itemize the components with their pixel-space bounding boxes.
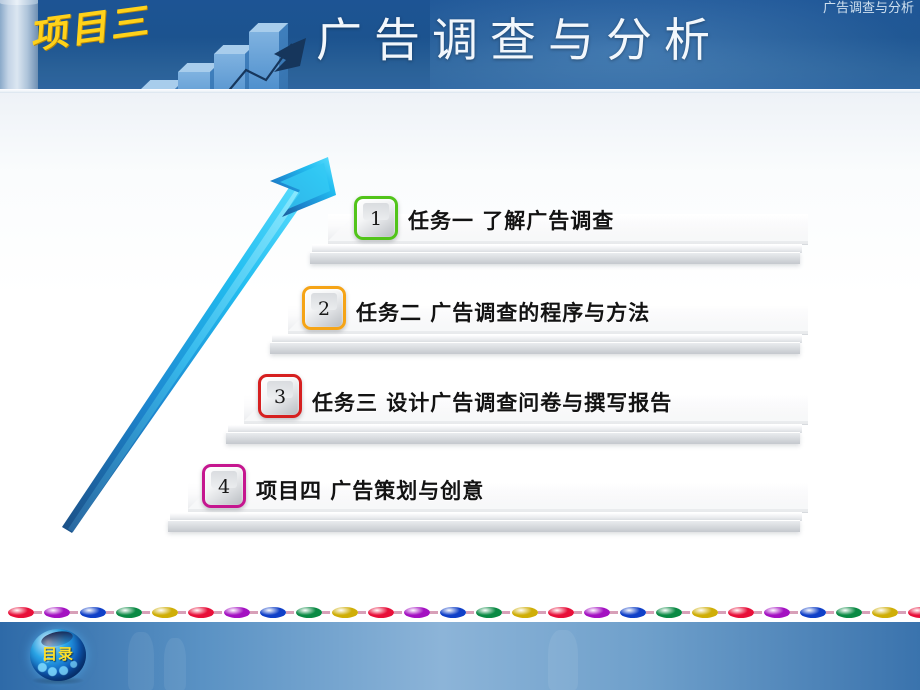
badge-number: 3 [261, 377, 299, 415]
item-number-badge[interactable]: 4 [202, 464, 246, 508]
slide-footer [0, 622, 920, 690]
bead [800, 607, 826, 618]
bead-link [322, 611, 330, 614]
bead-link [358, 611, 366, 614]
row-base-lower [270, 342, 800, 354]
bead-link [574, 611, 582, 614]
badge-number: 2 [305, 289, 343, 327]
bead [476, 607, 502, 618]
badge-number: 4 [205, 467, 243, 505]
bead [260, 607, 286, 618]
row-base-lower [226, 432, 800, 444]
bead [44, 607, 70, 618]
bead-link [502, 611, 510, 614]
bead-link [214, 611, 222, 614]
item-number-badge[interactable]: 2 [302, 286, 346, 330]
bead-link [70, 611, 78, 614]
bead [764, 607, 790, 618]
ghost-figure [128, 632, 154, 690]
bead-link [790, 611, 798, 614]
bead-link [106, 611, 114, 614]
bead [692, 607, 718, 618]
bead [188, 607, 214, 618]
bead [440, 607, 466, 618]
slide-canvas: 项目三 广告调查与分析 广告调查与分析 [0, 0, 920, 690]
bead-link [142, 611, 150, 614]
list-item-label: 任务三 设计广告调查问卷与撰写报告 [312, 390, 672, 416]
bead-link [826, 611, 834, 614]
bead [872, 607, 898, 618]
list-item-label: 任务二 广告调查的程序与方法 [356, 300, 650, 326]
badge-number: 1 [357, 199, 395, 237]
bead [620, 607, 646, 618]
bead [152, 607, 178, 618]
bead-link [682, 611, 690, 614]
bead [80, 607, 106, 618]
bead [548, 607, 574, 618]
bead [8, 607, 34, 618]
list-item[interactable]: 2 任务二 广告调查的程序与方法 [288, 278, 808, 356]
bead-link [430, 611, 438, 614]
globe-orb-icon[interactable]: 目录 [30, 629, 86, 681]
bead-link [898, 611, 906, 614]
bead [728, 607, 754, 618]
item-number-badge[interactable]: 1 [354, 196, 398, 240]
ghost-figure [548, 630, 578, 690]
ghost-figure [164, 638, 186, 690]
bead [368, 607, 394, 618]
bead [116, 607, 142, 618]
bead-link [718, 611, 726, 614]
bead-link [646, 611, 654, 614]
bead-link [466, 611, 474, 614]
list-item[interactable]: 1 任务一 了解广告调查 [328, 188, 808, 266]
bead [512, 607, 538, 618]
bead [296, 607, 322, 618]
bead [224, 607, 250, 618]
bead-link [250, 611, 258, 614]
bead-link [286, 611, 294, 614]
list-item[interactable]: 3 任务三 设计广告调查问卷与撰写报告 [244, 368, 808, 446]
bead-divider [0, 604, 920, 622]
bead-link [34, 611, 42, 614]
item-number-badge[interactable]: 3 [258, 374, 302, 418]
bead [908, 607, 920, 618]
bead-link [862, 611, 870, 614]
bead-link [754, 611, 762, 614]
menu-list: 1 任务一 了解广告调查 2 任务二 广告调查的程序与方法 [0, 0, 920, 690]
bead-link [538, 611, 546, 614]
bead-link [394, 611, 402, 614]
bead [656, 607, 682, 618]
bead [836, 607, 862, 618]
list-item-label: 项目四 广告策划与创意 [256, 478, 484, 504]
bead-link [178, 611, 186, 614]
row-base-lower [168, 520, 800, 532]
toc-label: 目录 [30, 643, 86, 664]
list-item-label: 任务一 了解广告调查 [408, 208, 614, 234]
bead [332, 607, 358, 618]
bead [584, 607, 610, 618]
bead-link [610, 611, 618, 614]
bead [404, 607, 430, 618]
row-base-lower [310, 252, 800, 264]
list-item[interactable]: 4 项目四 广告策划与创意 [188, 456, 808, 534]
